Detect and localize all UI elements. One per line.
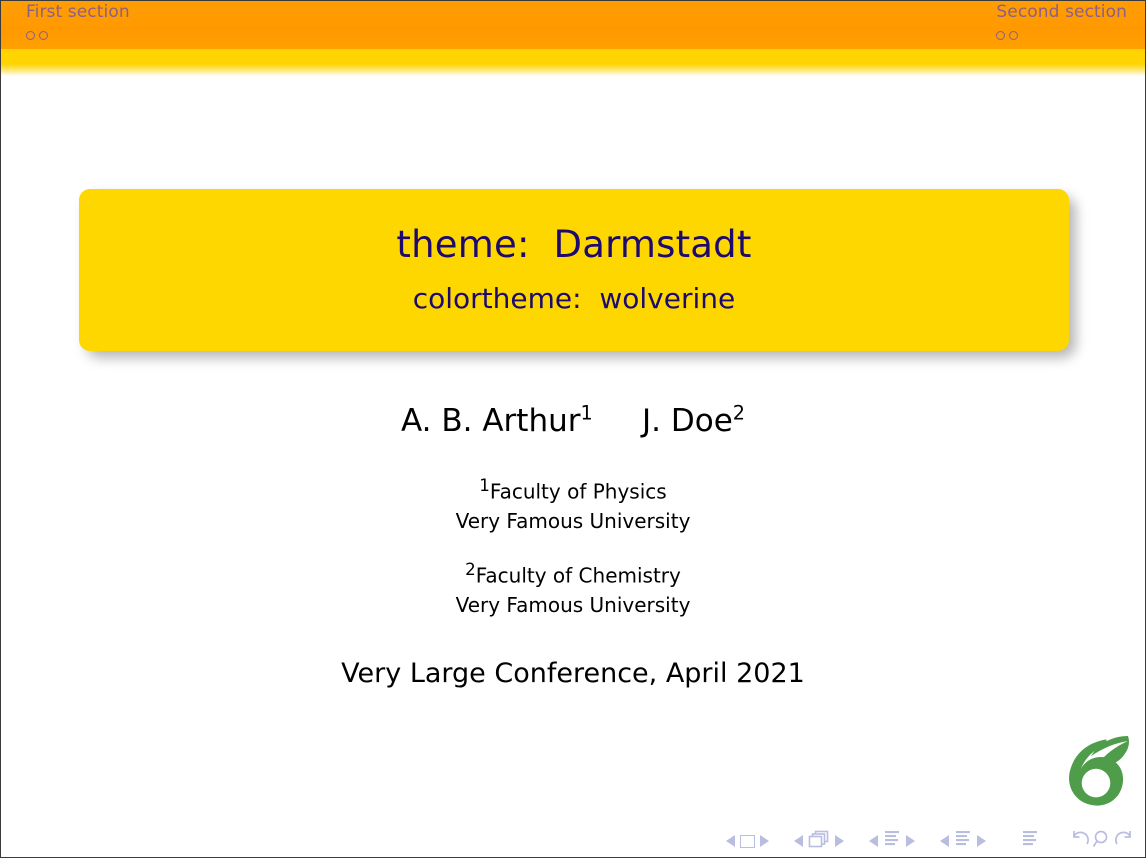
institute-2-faculty: Faculty of Chemistry [476, 564, 681, 588]
green-leaf-six-logo-icon [1053, 731, 1139, 815]
next-slide-icon[interactable] [760, 835, 769, 847]
prev-section-icon[interactable] [940, 835, 949, 847]
institute-2-university: Very Famous University [1, 591, 1145, 620]
section-nav-first-label: First section [26, 4, 130, 21]
institute-1-marker: 1 [479, 476, 490, 495]
conference-date: Very Large Conference, April 2021 [1, 658, 1145, 689]
section-nav-second-label: Second section [996, 4, 1127, 21]
subsection-icon[interactable] [883, 830, 901, 852]
header-orange-band [1, 1, 1145, 49]
institute-1-university: Very Famous University [1, 507, 1145, 536]
subsection-marker-icon[interactable] [39, 31, 48, 40]
author-separator [593, 403, 642, 439]
next-section-icon[interactable] [977, 835, 986, 847]
subsection-marker-icon[interactable] [1009, 31, 1018, 40]
subsection-marker-icon[interactable] [26, 31, 35, 40]
section-nav-first[interactable]: First section [26, 4, 130, 39]
back-icon[interactable] [1069, 829, 1091, 853]
frame-navigation-group[interactable] [789, 830, 849, 852]
section-nav-second-markers[interactable] [996, 27, 1127, 39]
appendix-icon[interactable] [1021, 830, 1039, 852]
institute-2-name: 2Faculty of Chemistry [1, 558, 1145, 591]
beamer-slide: First section Second section theme: Darm… [0, 0, 1146, 858]
subsection-navigation-group[interactable] [864, 830, 920, 852]
header-navigation-bar: First section Second section [1, 1, 1145, 76]
slide-icon[interactable] [740, 835, 755, 848]
next-frame-icon[interactable] [835, 835, 844, 847]
prev-slide-icon[interactable] [726, 835, 735, 847]
header-yellow-band [1, 49, 1145, 76]
title-block-panel: theme: Darmstadt colortheme: wolverine [79, 189, 1069, 351]
beamer-navigation-symbols[interactable] [721, 828, 1135, 854]
search-icon[interactable] [1091, 829, 1113, 853]
page-subtitle: colortheme: wolverine [413, 284, 736, 315]
prev-subsection-icon[interactable] [869, 835, 878, 847]
page-title: theme: Darmstadt [396, 225, 751, 266]
next-subsection-icon[interactable] [906, 835, 915, 847]
author-list: A. B. Arthur1 J. Doe2 [1, 403, 1145, 440]
author-affiliation-marker-1: 1 [581, 402, 593, 425]
slide-navigation-group[interactable] [721, 835, 774, 848]
title-block: theme: Darmstadt colortheme: wolverine [79, 189, 1069, 351]
institute-1-name: 1Faculty of Physics [1, 474, 1145, 507]
author-name-1: A. B. Arthur [401, 403, 581, 439]
prev-frame-icon[interactable] [794, 835, 803, 847]
institute-2: 2Faculty of Chemistry Very Famous Univer… [1, 558, 1145, 620]
frame-icon[interactable] [808, 830, 830, 852]
section-nav-second[interactable]: Second section [996, 4, 1127, 39]
institute-1-faculty: Faculty of Physics [490, 480, 667, 504]
section-nav-first-markers[interactable] [26, 27, 130, 39]
section-navigation-group[interactable] [935, 830, 991, 852]
forward-icon[interactable] [1113, 829, 1135, 853]
section-icon[interactable] [954, 830, 972, 852]
title-page-body: A. B. Arthur1 J. Doe2 1Faculty of Physic… [1, 403, 1145, 689]
subsection-marker-icon[interactable] [996, 31, 1005, 40]
institute-1: 1Faculty of Physics Very Famous Universi… [1, 474, 1145, 536]
author-name-2: J. Doe [642, 403, 733, 439]
author-affiliation-marker-2: 2 [733, 402, 745, 425]
institute-2-marker: 2 [465, 560, 476, 579]
